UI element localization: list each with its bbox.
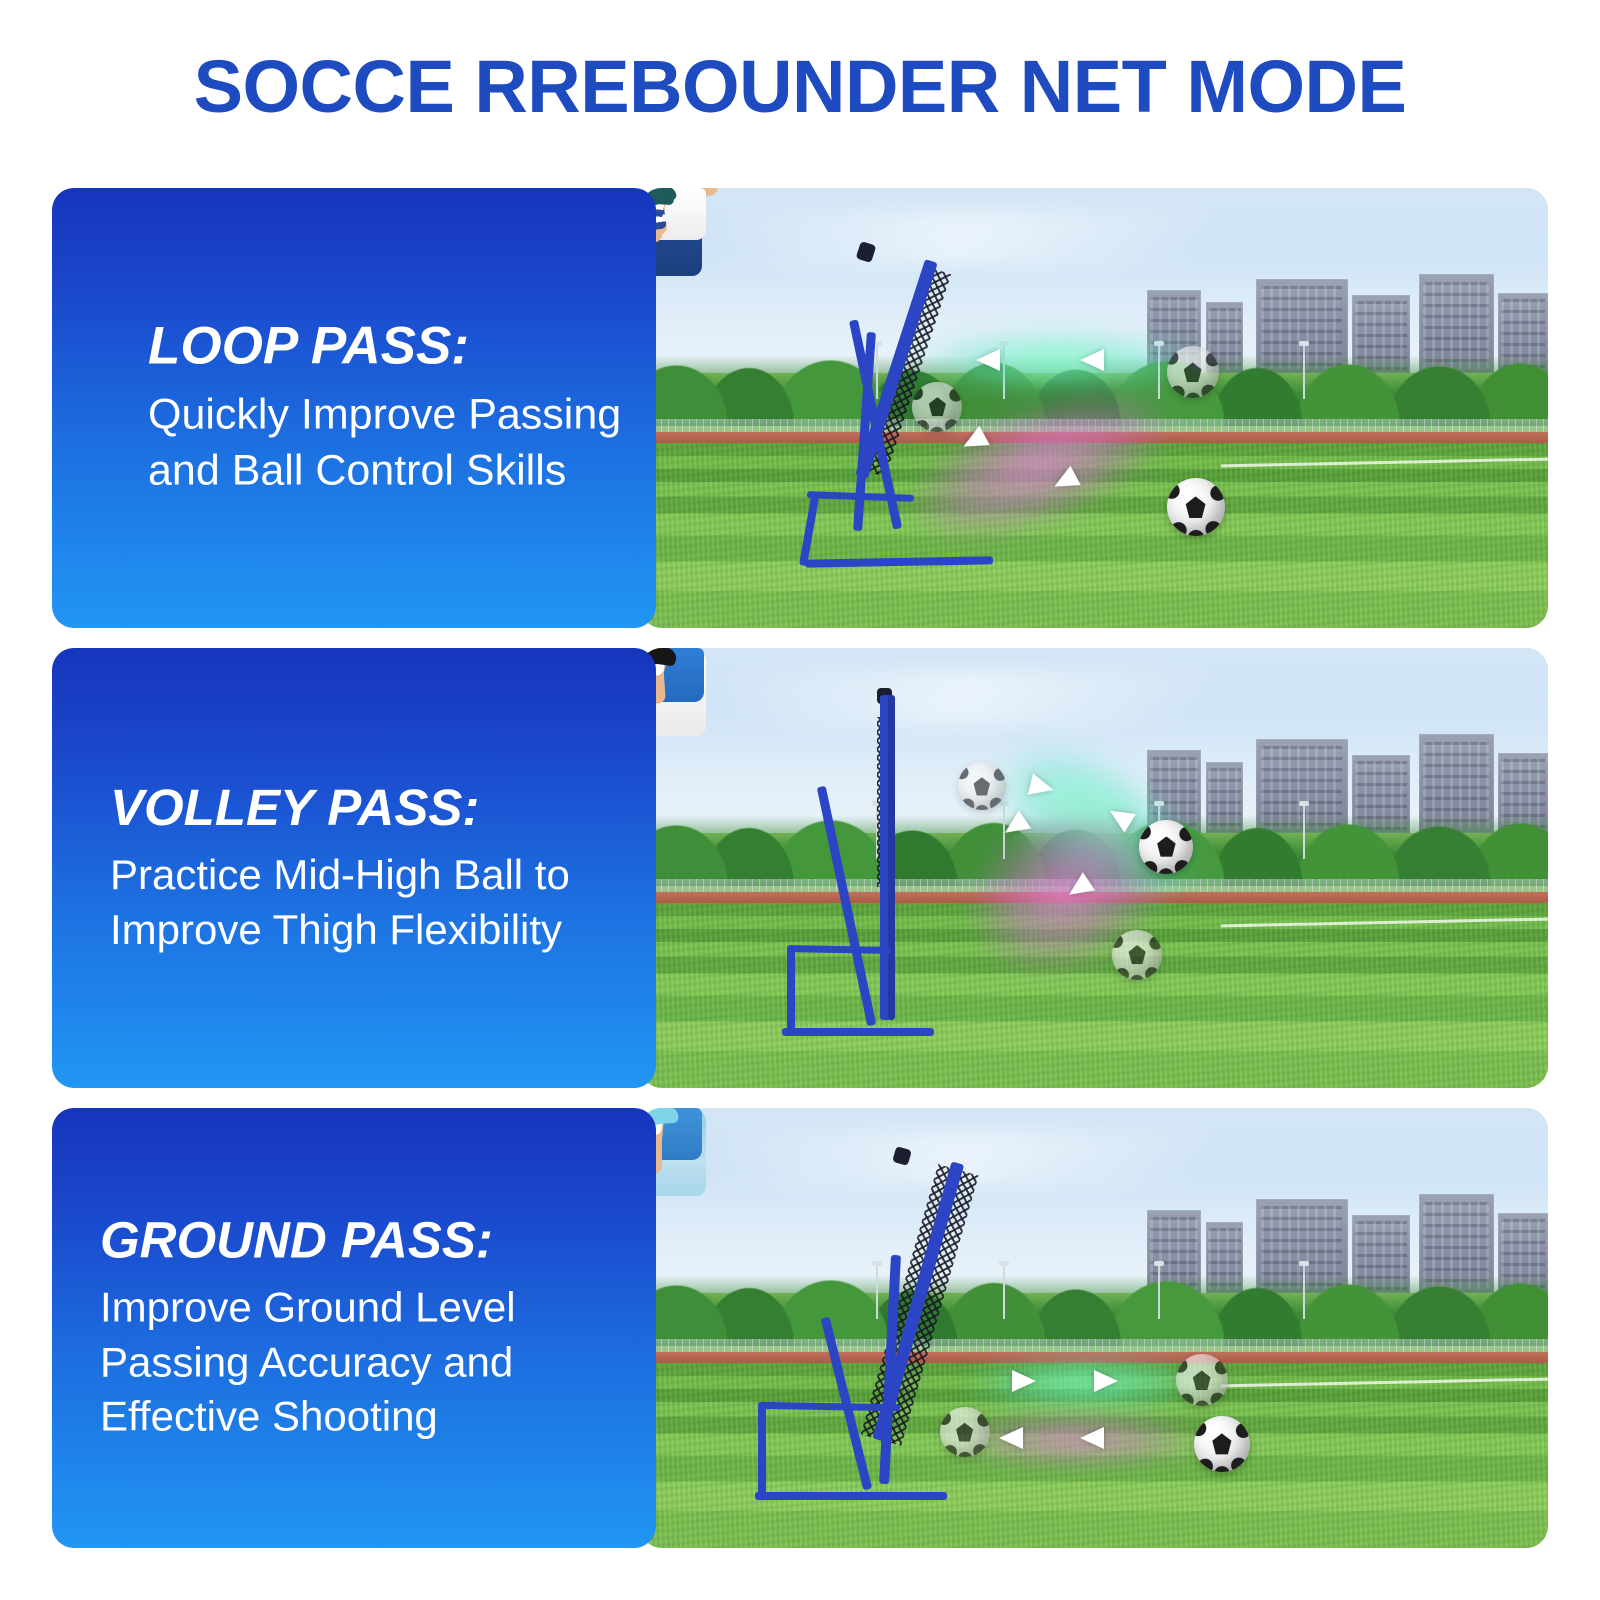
arrow-return-2: [1080, 1427, 1104, 1449]
feature-row-ground-pass: GROUND PASS: Improve Ground Level Passin…: [52, 1108, 1548, 1548]
outgoing-ball-trail: [967, 1359, 1203, 1407]
soccer-ball-ghost-2: [1112, 930, 1162, 980]
text-card-content: LOOP PASS: Quickly Improve Passing and B…: [148, 316, 622, 499]
card-body: Improve Ground Level Passing Accuracy an…: [100, 1281, 622, 1445]
arrow-outgoing-1: [1012, 1370, 1036, 1392]
feature-row-loop-pass: LOOP PASS: Quickly Improve Passing and B…: [52, 188, 1548, 628]
rebounder-net: [749, 1152, 1058, 1522]
card-body: Quickly Improve Passing and Ball Control…: [148, 388, 622, 500]
arrow-outgoing-2: [1094, 1370, 1118, 1392]
product-feature-page: SOCCE RREBOUNDER NET MODE LOOP PASS: Qui…: [0, 0, 1600, 1600]
card-heading: GROUND PASS:: [100, 1212, 622, 1269]
soccer-ball-ghost-2: [1176, 1354, 1228, 1406]
arrow-outgoing-1: [976, 349, 1000, 371]
soccer-ball-main: [1139, 820, 1193, 874]
arrow-outgoing-2: [1080, 349, 1104, 371]
text-card-volley-pass: VOLLEY PASS: Practice Mid-High Ball to I…: [52, 648, 656, 1088]
photo-loop-pass: 9: [640, 188, 1548, 628]
text-card-ground-pass: GROUND PASS: Improve Ground Level Passin…: [52, 1108, 656, 1548]
text-card-content: GROUND PASS: Improve Ground Level Passin…: [100, 1212, 622, 1445]
page-title: SOCCE RREBOUNDER NET MODE: [0, 48, 1600, 126]
soccer-ball-main: [1167, 478, 1225, 536]
soccer-ball-ghost-2: [1167, 346, 1219, 398]
photo-ground-pass: [640, 1108, 1548, 1548]
soccer-ball-ghost-1: [940, 1407, 990, 1457]
photo-volley-pass: [640, 648, 1548, 1088]
card-body: Practice Mid-High Ball to Improve Thigh …: [110, 848, 622, 957]
soccer-ball-main: [1194, 1416, 1250, 1472]
feature-row-volley-pass: VOLLEY PASS: Practice Mid-High Ball to I…: [52, 648, 1548, 1088]
card-heading: LOOP PASS:: [148, 316, 622, 375]
text-card-loop-pass: LOOP PASS: Quickly Improve Passing and B…: [52, 188, 656, 628]
card-heading: VOLLEY PASS:: [110, 779, 622, 836]
arrow-return-1: [999, 1427, 1023, 1449]
text-card-content: VOLLEY PASS: Practice Mid-High Ball to I…: [110, 779, 622, 957]
soccer-ball-ghost-1: [958, 762, 1006, 810]
soccer-ball-ghost-1: [912, 382, 962, 432]
